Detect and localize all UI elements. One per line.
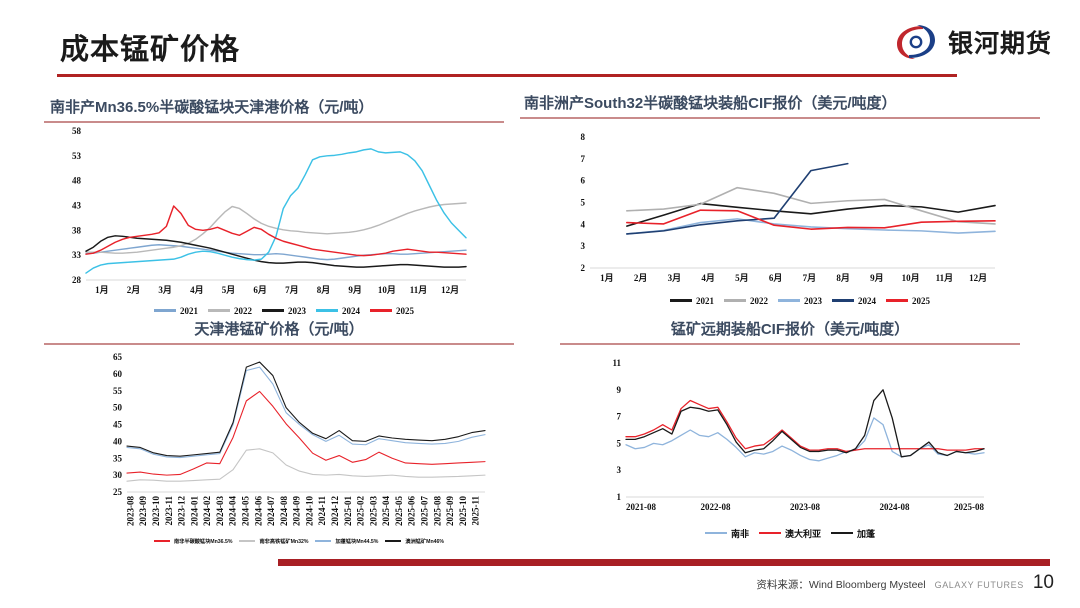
legend-item: 加蓬 <box>831 527 875 540</box>
legend-label: 2023 <box>804 296 822 306</box>
legend-swatch <box>316 309 338 312</box>
legend-item: 2023 <box>778 296 822 306</box>
panel-p3: 天津港锰矿价格（元/吨） 2530354045505560652023-0820… <box>44 318 514 545</box>
legend-swatch <box>759 532 781 535</box>
legend-label: 2025 <box>912 296 930 306</box>
svg-text:6: 6 <box>581 175 586 185</box>
chart-p4-svg: 13579112021-082022-082023-082024-082025-… <box>598 355 998 527</box>
title-divider <box>57 74 957 77</box>
legend-swatch <box>154 309 176 312</box>
panel-p4-title: 锰矿远期装船CIF报价（美元/吨度） <box>560 318 1020 339</box>
svg-text:60: 60 <box>113 368 123 378</box>
svg-text:2: 2 <box>581 263 586 273</box>
svg-text:2024-04: 2024-04 <box>228 495 238 525</box>
brand-logo: 银河期货 <box>893 22 1052 62</box>
svg-text:5月: 5月 <box>735 273 749 283</box>
svg-text:53: 53 <box>72 150 82 160</box>
svg-text:55: 55 <box>113 385 123 395</box>
svg-text:9: 9 <box>617 384 622 394</box>
svg-text:2025-09: 2025-09 <box>445 495 455 525</box>
svg-text:2023-08: 2023-08 <box>125 495 135 525</box>
panel-p1: 南非产Mn36.5%半碳酸锰块天津港价格（元/吨） 28333843485358… <box>44 96 504 316</box>
svg-text:9月: 9月 <box>348 285 362 295</box>
svg-text:6月: 6月 <box>253 285 267 295</box>
svg-text:2024-11: 2024-11 <box>317 495 327 525</box>
footer-brand: GALAXY FUTURES <box>935 580 1024 590</box>
footer-accent-bar <box>278 559 1050 566</box>
svg-text:2021-08: 2021-08 <box>626 502 656 512</box>
svg-text:2024-05: 2024-05 <box>240 495 250 525</box>
svg-text:5: 5 <box>617 438 622 448</box>
svg-text:3月: 3月 <box>668 273 682 283</box>
chart-p2-svg: 23456781月2月3月4月5月6月7月8月9月10月11月12月 <box>560 129 1020 294</box>
svg-text:3月: 3月 <box>158 285 172 295</box>
page-number: 10 <box>1033 572 1054 594</box>
svg-text:7月: 7月 <box>803 273 817 283</box>
chart-p2-legend: 20212022202320242025 <box>520 296 1040 306</box>
chart-p3-svg: 2530354045505560652023-082023-092023-102… <box>99 349 499 544</box>
slide-root: 成本锰矿价格 银河期货 南非产Mn36.5%半碳酸锰块天津港价格（元/吨） 28… <box>0 0 1080 608</box>
svg-text:65: 65 <box>113 352 123 362</box>
chart-p4: 13579112021-082022-082023-082024-082025-… <box>560 355 1020 527</box>
legend-swatch <box>208 309 230 312</box>
legend-item: 2024 <box>832 296 876 306</box>
svg-text:2023-08: 2023-08 <box>790 502 820 512</box>
svg-text:2024-08: 2024-08 <box>880 502 910 512</box>
svg-text:10月: 10月 <box>902 273 920 283</box>
svg-text:4: 4 <box>581 219 586 229</box>
legend-item: 南非 <box>705 527 749 540</box>
legend-item: 2025 <box>886 296 930 306</box>
legend-swatch <box>724 299 746 302</box>
panel-p2-divider <box>520 117 1040 119</box>
svg-text:2024-06: 2024-06 <box>253 495 263 525</box>
svg-text:8月: 8月 <box>317 285 331 295</box>
panel-p4: 锰矿远期装船CIF报价（美元/吨度） 13579112021-082022-08… <box>560 318 1020 540</box>
svg-text:33: 33 <box>72 250 82 260</box>
chart-p4-legend: 南非澳大利亚加蓬 <box>560 527 1020 540</box>
svg-text:9月: 9月 <box>870 273 884 283</box>
galaxy-swirl-logo-icon <box>893 22 939 62</box>
svg-text:8月: 8月 <box>836 273 850 283</box>
svg-text:45: 45 <box>113 419 123 429</box>
svg-text:2月: 2月 <box>127 285 141 295</box>
legend-item: 2022 <box>724 296 768 306</box>
svg-text:2024-09: 2024-09 <box>292 495 302 525</box>
svg-text:12月: 12月 <box>441 285 459 295</box>
legend-item: 澳大利亚 <box>759 527 821 540</box>
svg-text:10月: 10月 <box>378 285 396 295</box>
svg-text:43: 43 <box>72 200 82 210</box>
legend-swatch <box>705 532 727 535</box>
svg-text:1月: 1月 <box>95 285 109 295</box>
chart-p3: 2530354045505560652023-082023-092023-102… <box>44 349 514 544</box>
svg-text:2025-05: 2025-05 <box>394 495 404 525</box>
legend-label: 澳大利亚 <box>785 527 821 540</box>
legend-swatch <box>778 299 800 302</box>
svg-text:2023-09: 2023-09 <box>138 495 148 525</box>
svg-text:2024-08: 2024-08 <box>279 495 289 525</box>
svg-text:35: 35 <box>113 453 123 463</box>
chart-p2: 23456781月2月3月4月5月6月7月8月9月10月11月12月 <box>520 129 1040 294</box>
footer: 资料来源：Wind Bloomberg Mysteel GALAXY FUTUR… <box>756 572 1054 594</box>
svg-text:11月: 11月 <box>410 285 428 295</box>
svg-text:2月: 2月 <box>634 273 648 283</box>
chart-p1-svg: 283338434853581月2月3月4月5月6月7月8月9月10月11月12… <box>44 123 484 308</box>
panel-p3-divider <box>44 343 514 345</box>
svg-text:1: 1 <box>617 492 622 502</box>
svg-text:2023-11: 2023-11 <box>164 495 174 525</box>
svg-text:2024-12: 2024-12 <box>330 495 340 525</box>
svg-text:2025-08: 2025-08 <box>432 495 442 525</box>
svg-text:38: 38 <box>72 225 82 235</box>
legend-label: 南非 <box>731 527 749 540</box>
svg-text:2023-12: 2023-12 <box>177 495 187 525</box>
svg-text:50: 50 <box>113 402 123 412</box>
svg-text:11: 11 <box>612 358 621 368</box>
legend-label: 2021 <box>696 296 714 306</box>
svg-text:5: 5 <box>581 197 586 207</box>
panel-p2-title: 南非洲产South32半碳酸锰块装船CIF报价（美元/吨度） <box>520 92 1040 113</box>
svg-text:5月: 5月 <box>222 285 236 295</box>
legend-swatch <box>262 309 284 312</box>
svg-text:11月: 11月 <box>936 273 954 283</box>
svg-text:30: 30 <box>113 470 123 480</box>
svg-text:3: 3 <box>581 241 586 251</box>
svg-text:4月: 4月 <box>701 273 715 283</box>
svg-text:2022-08: 2022-08 <box>701 502 731 512</box>
svg-text:2024-03: 2024-03 <box>215 495 225 525</box>
svg-text:2025-10: 2025-10 <box>458 495 468 525</box>
logo-text: 银河期货 <box>948 24 1052 60</box>
page-title: 成本锰矿价格 <box>60 26 240 68</box>
legend-label: 加蓬 <box>857 527 875 540</box>
svg-text:2024-02: 2024-02 <box>202 495 212 525</box>
legend-swatch <box>670 299 692 302</box>
panel-p3-title: 天津港锰矿价格（元/吨） <box>44 318 514 339</box>
svg-text:7月: 7月 <box>285 285 299 295</box>
svg-text:2025-08: 2025-08 <box>954 502 984 512</box>
svg-text:2025-11: 2025-11 <box>471 495 481 525</box>
svg-text:2024-10: 2024-10 <box>304 495 314 525</box>
footer-source: 资料来源：Wind Bloomberg Mysteel <box>756 577 925 592</box>
svg-text:6月: 6月 <box>769 273 783 283</box>
legend-label: 2024 <box>858 296 876 306</box>
svg-text:12月: 12月 <box>969 273 987 283</box>
svg-text:2024-01: 2024-01 <box>189 495 199 525</box>
panel-p1-title: 南非产Mn36.5%半碳酸锰块天津港价格（元/吨） <box>44 96 504 117</box>
svg-text:1月: 1月 <box>600 273 614 283</box>
legend-label: 2022 <box>750 296 768 306</box>
svg-text:2025-01: 2025-01 <box>343 495 353 525</box>
legend-item: 2021 <box>670 296 714 306</box>
legend-swatch <box>370 309 392 312</box>
svg-text:8: 8 <box>581 132 586 142</box>
svg-text:40: 40 <box>113 436 123 446</box>
svg-text:2024-07: 2024-07 <box>266 495 276 525</box>
panel-p4-divider <box>560 343 1020 345</box>
svg-text:4月: 4月 <box>190 285 204 295</box>
legend-swatch <box>831 532 853 535</box>
svg-text:2025-06: 2025-06 <box>407 495 417 525</box>
svg-text:7: 7 <box>617 411 622 421</box>
svg-text:7: 7 <box>581 153 586 163</box>
svg-text:2023-10: 2023-10 <box>151 495 161 525</box>
legend-swatch <box>886 299 908 302</box>
svg-text:2025-04: 2025-04 <box>381 495 391 525</box>
svg-text:58: 58 <box>72 126 82 136</box>
svg-text:25: 25 <box>113 487 123 497</box>
legend-swatch <box>832 299 854 302</box>
svg-text:2025-03: 2025-03 <box>368 495 378 525</box>
svg-text:2025-02: 2025-02 <box>356 495 366 525</box>
panel-p2: 南非洲产South32半碳酸锰块装船CIF报价（美元/吨度） 23456781月… <box>520 92 1040 306</box>
svg-text:2025-07: 2025-07 <box>419 495 429 525</box>
chart-p1: 283338434853581月2月3月4月5月6月7月8月9月10月11月12… <box>44 123 504 308</box>
svg-text:3: 3 <box>617 465 622 475</box>
svg-text:48: 48 <box>72 175 82 185</box>
svg-text:28: 28 <box>72 275 82 285</box>
